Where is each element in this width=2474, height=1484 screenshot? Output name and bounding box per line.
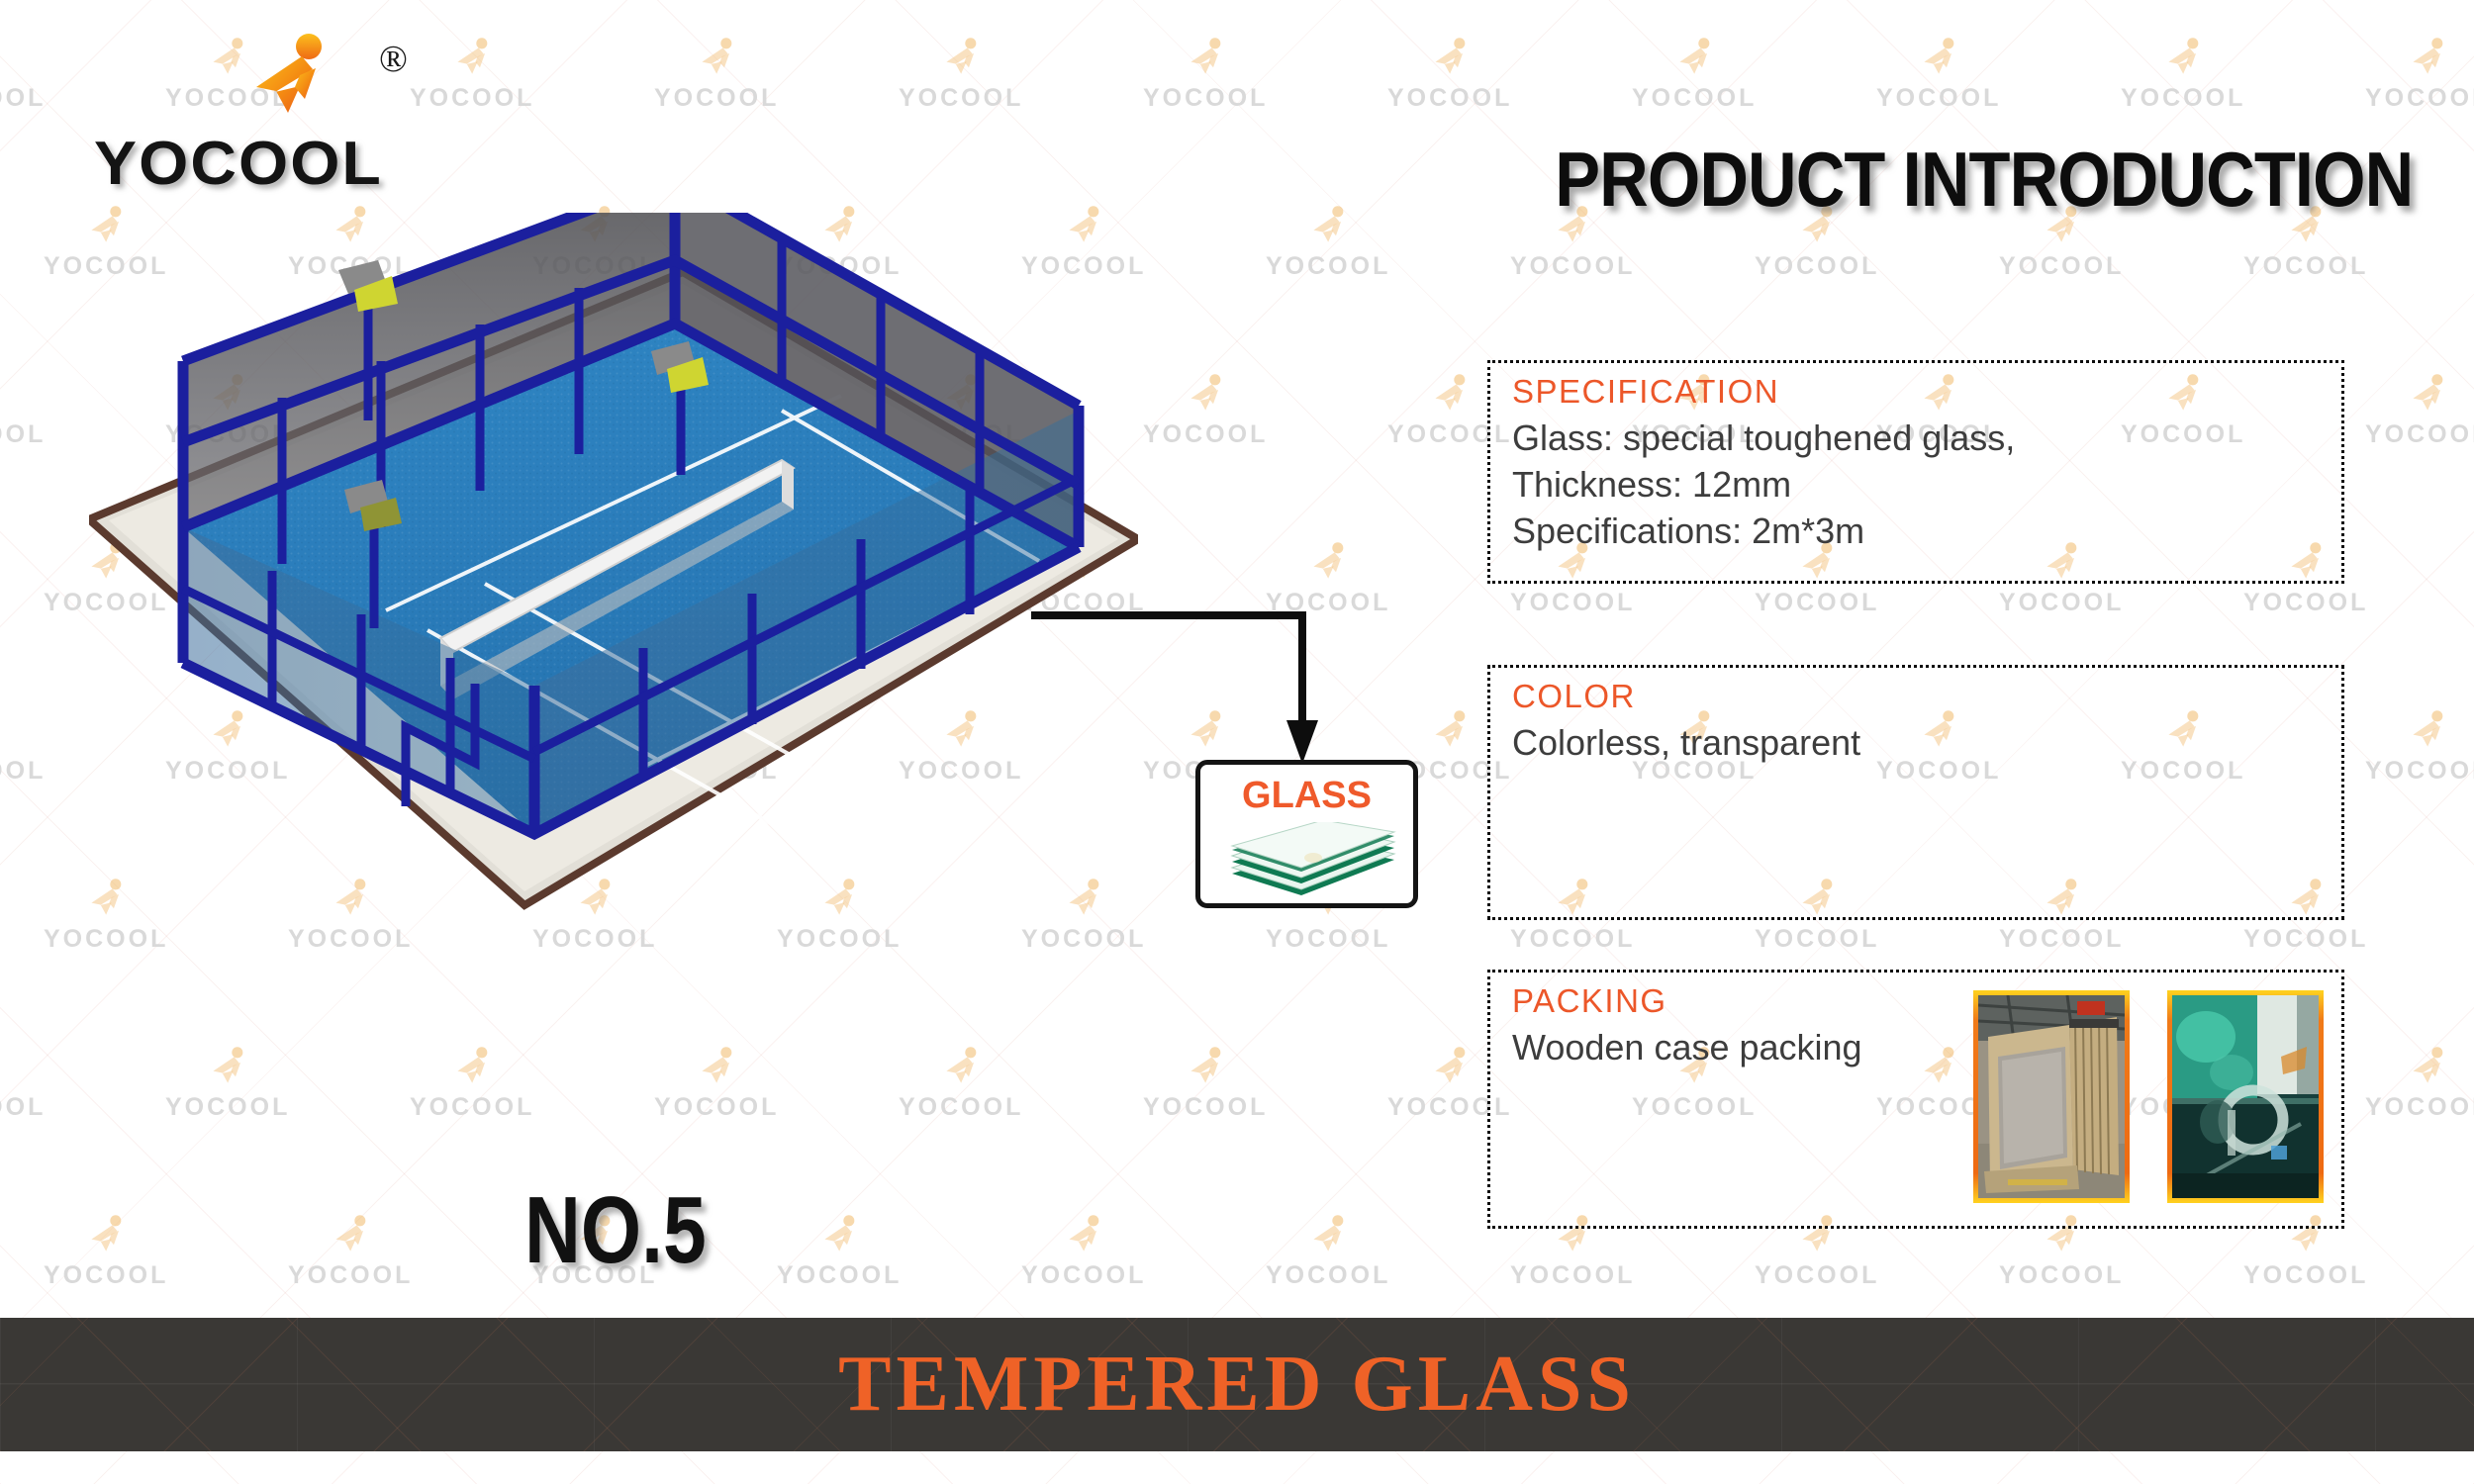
watermark-athlete-icon — [1307, 204, 1353, 249]
watermark-tile: YOCOOL — [1387, 40, 1516, 113]
watermark-text: YOCOOL — [1387, 84, 1512, 113]
watermark-tile: YOCOOL — [44, 1217, 172, 1290]
slide-number: NO.5 — [524, 1183, 707, 1278]
watermark-text: YOCOOL — [1755, 925, 1879, 954]
watermark-text: YOCOOL — [0, 420, 46, 449]
watermark-text: YOCOOL — [1143, 420, 1268, 449]
watermark-athlete-icon — [0, 708, 8, 754]
watermark-tile: YOCOOL — [2121, 40, 2249, 113]
watermark-athlete-icon — [818, 1213, 864, 1258]
watermark-text: YOCOOL — [1755, 589, 1879, 617]
watermark-text: YOCOOL — [1266, 252, 1390, 281]
glass-callout-label: GLASS — [1200, 775, 1413, 817]
watermark-text: YOCOOL — [2365, 84, 2474, 113]
watermark-text: YOCOOL — [2365, 420, 2474, 449]
watermark-athlete-icon — [451, 36, 497, 81]
packing-photo-gallery — [1973, 990, 2324, 1203]
watermark-tile: YOCOOL — [1632, 40, 1760, 113]
watermark-text: YOCOOL — [1266, 1261, 1390, 1290]
watermark-athlete-icon — [1429, 1045, 1475, 1090]
watermark-text: YOCOOL — [899, 1093, 1023, 1122]
specification-body: Glass: special toughened glass, Thicknes… — [1512, 415, 2015, 554]
watermark-tile: YOCOOL — [1143, 376, 1272, 449]
watermark-tile: YOCOOL — [2365, 40, 2474, 113]
watermark-text: YOCOOL — [654, 1093, 779, 1122]
watermark-tile: YOCOOL — [654, 1049, 783, 1122]
watermark-text: YOCOOL — [1755, 252, 1879, 281]
watermark-athlete-icon — [940, 1045, 986, 1090]
watermark-athlete-icon — [1429, 36, 1475, 81]
watermark-athlete-icon — [1918, 36, 1963, 81]
page-title: PRODUCT INTRODUCTION — [1555, 140, 2413, 218]
watermark-text: YOCOOL — [1510, 589, 1635, 617]
stacked-glass-sheets-icon — [1228, 822, 1398, 903]
footer-banner: TEMPERED GLASS — [0, 1318, 2474, 1451]
watermark-athlete-icon — [2407, 708, 2452, 754]
watermark-text: YOCOOL — [2243, 589, 2368, 617]
watermark-text: YOCOOL — [2365, 757, 2474, 786]
watermark-text: YOCOOL — [165, 1093, 290, 1122]
watermark-tile: YOCOOL — [0, 712, 49, 786]
watermark-text: YOCOOL — [410, 1093, 534, 1122]
watermark-text: YOCOOL — [1021, 1261, 1146, 1290]
specification-heading: SPECIFICATION — [1512, 373, 1779, 411]
brand-logo: ® YOCOOL — [94, 30, 371, 188]
watermark-text: YOCOOL — [1755, 1261, 1879, 1290]
watermark-text: YOCOOL — [1999, 1261, 2124, 1290]
watermark-text: YOCOOL — [1143, 1093, 1268, 1122]
watermark-text: YOCOOL — [0, 1093, 46, 1122]
watermark-text: YOCOOL — [777, 1261, 902, 1290]
watermark-text: YOCOOL — [1999, 589, 2124, 617]
watermark-tile: YOCOOL — [1021, 1217, 1150, 1290]
packing-body: Wooden case packing — [1512, 1024, 1862, 1070]
watermark-tile: YOCOOL — [2365, 1049, 2474, 1122]
watermark-tile: YOCOOL — [654, 40, 783, 113]
watermark-athlete-icon — [696, 1045, 741, 1090]
watermark-athlete-icon — [2407, 1045, 2452, 1090]
watermark-text: YOCOOL — [899, 84, 1023, 113]
watermark-text: YOCOOL — [1632, 84, 1757, 113]
packing-panel: PACKING Wooden case packing — [1487, 970, 2344, 1229]
watermark-text: YOCOOL — [0, 757, 46, 786]
watermark-text: YOCOOL — [0, 84, 46, 113]
watermark-athlete-icon — [1185, 36, 1230, 81]
watermark-text: YOCOOL — [44, 1261, 168, 1290]
watermark-tile: YOCOOL — [1143, 1049, 1272, 1122]
color-heading: COLOR — [1512, 678, 1636, 715]
athlete-figure-icon — [242, 30, 341, 129]
watermark-athlete-icon — [1429, 708, 1475, 754]
footer-title: TEMPERED GLASS — [0, 1318, 2474, 1451]
watermark-text: YOCOOL — [2243, 925, 2368, 954]
watermark-text: YOCOOL — [2365, 1093, 2474, 1122]
wooden-crate-photo — [1973, 990, 2130, 1203]
watermark-text: YOCOOL — [410, 84, 534, 113]
watermark-tile: YOCOOL — [410, 1049, 538, 1122]
registered-trademark-icon: ® — [379, 38, 408, 81]
watermark-athlete-icon — [2162, 36, 2208, 81]
watermark-athlete-icon — [1307, 1213, 1353, 1258]
color-body: Colorless, transparent — [1512, 719, 1860, 766]
watermark-athlete-icon — [451, 1045, 497, 1090]
watermark-tile: YOCOOL — [410, 40, 538, 113]
watermark-text: YOCOOL — [1876, 84, 2001, 113]
watermark-athlete-icon — [2407, 36, 2452, 81]
watermark-tile: YOCOOL — [1143, 40, 1272, 113]
watermark-text: YOCOOL — [2243, 1261, 2368, 1290]
watermark-athlete-icon — [1429, 372, 1475, 417]
watermark-text: YOCOOL — [654, 84, 779, 113]
watermark-athlete-icon — [1185, 1045, 1230, 1090]
watermark-text: YOCOOL — [1999, 925, 2124, 954]
watermark-text: YOCOOL — [1143, 84, 1268, 113]
specification-panel: SPECIFICATION Glass: special toughened g… — [1487, 360, 2344, 584]
watermark-athlete-icon — [696, 36, 741, 81]
watermark-tile: YOCOOL — [0, 40, 49, 113]
watermark-athlete-icon — [85, 1213, 131, 1258]
watermark-text: YOCOOL — [1510, 925, 1635, 954]
watermark-tile: YOCOOL — [288, 1217, 417, 1290]
color-panel: COLOR Colorless, transparent — [1487, 665, 2344, 920]
watermark-tile: YOCOOL — [777, 1217, 905, 1290]
watermark-athlete-icon — [0, 372, 8, 417]
watermark-tile: YOCOOL — [899, 40, 1027, 113]
watermark-text: YOCOOL — [1510, 1261, 1635, 1290]
watermark-tile: YOCOOL — [1266, 208, 1394, 281]
brand-name: YOCOOL — [94, 129, 383, 199]
watermark-tile: YOCOOL — [2365, 376, 2474, 449]
watermark-tile: YOCOOL — [0, 1049, 49, 1122]
watermark-athlete-icon — [1185, 372, 1230, 417]
glass-callout-box: GLASS — [1195, 760, 1418, 908]
watermark-text: YOCOOL — [1510, 252, 1635, 281]
packing-heading: PACKING — [1512, 982, 1667, 1020]
watermark-athlete-icon — [940, 36, 986, 81]
watermark-tile: YOCOOL — [1876, 40, 2005, 113]
watermark-tile: YOCOOL — [165, 1049, 294, 1122]
watermark-text: YOCOOL — [288, 1261, 413, 1290]
watermark-tile: YOCOOL — [2365, 712, 2474, 786]
watermark-text: YOCOOL — [1999, 252, 2124, 281]
watermark-athlete-icon — [330, 1213, 375, 1258]
padel-court-3d-render — [89, 213, 1138, 974]
watermark-text: YOCOOL — [2121, 84, 2245, 113]
watermark-tile: YOCOOL — [0, 376, 49, 449]
watermark-athlete-icon — [2407, 372, 2452, 417]
watermark-athlete-icon — [0, 1045, 8, 1090]
watermark-text: YOCOOL — [2243, 252, 2368, 281]
watermark-athlete-icon — [1673, 36, 1719, 81]
elbow-arrow-icon — [990, 554, 1405, 782]
watermark-text: YOCOOL — [1266, 925, 1390, 954]
watermark-tile: YOCOOL — [899, 1049, 1027, 1122]
glass-stack-photo — [2167, 990, 2324, 1203]
watermark-athlete-icon — [207, 1045, 252, 1090]
watermark-athlete-icon — [0, 36, 8, 81]
watermark-athlete-icon — [1063, 1213, 1108, 1258]
watermark-tile: YOCOOL — [1266, 1217, 1394, 1290]
